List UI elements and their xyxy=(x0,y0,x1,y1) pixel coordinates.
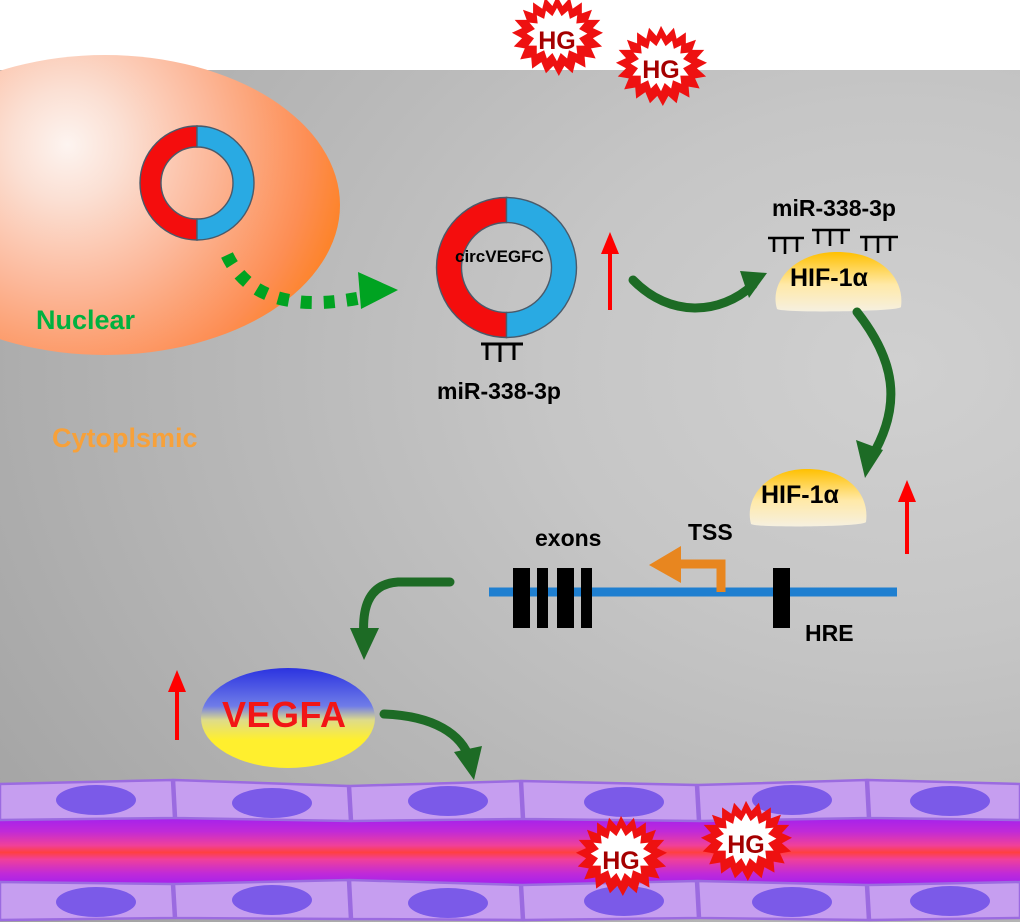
exon-box xyxy=(581,568,592,628)
exons-label: exons xyxy=(535,525,601,552)
mirna-label-hif: miR-338-3p xyxy=(772,195,896,222)
hre-box xyxy=(773,568,790,628)
hif1a-label-nuclear: HIF-1α xyxy=(761,481,839,510)
hif1a-label-cytoplasmic: HIF-1α xyxy=(790,264,868,293)
upregulation-arrow-circvegfc xyxy=(598,228,622,312)
circrna-cytoplasmic xyxy=(424,185,589,350)
vegfa-label: VEGFA xyxy=(222,694,347,736)
upregulation-arrow-vegfa xyxy=(165,666,189,742)
blood-vessel xyxy=(0,778,1020,922)
exon-box xyxy=(537,568,548,628)
nuclear-compartment-label: Nuclear xyxy=(36,305,135,336)
exon-box xyxy=(557,568,574,628)
hre-label: HRE xyxy=(805,620,854,647)
tss-label: TSS xyxy=(688,519,733,546)
exon-box xyxy=(513,568,530,628)
hg-label-bottom-2: HG xyxy=(714,831,778,860)
endothelium-top xyxy=(0,780,1020,821)
mirna-binding-site-circ-icon xyxy=(478,340,528,366)
mirna-label-circ: miR-338-3p xyxy=(437,378,561,405)
cytoplasm-compartment-label: Cytoplsmic xyxy=(52,423,198,454)
circrna-nuclear xyxy=(127,113,267,253)
arrow-hif-translocation xyxy=(795,300,925,490)
nuclear-export-dotted-arrow xyxy=(215,245,415,335)
hg-label-top-2: HG xyxy=(629,56,693,85)
hg-label-bottom-1: HG xyxy=(589,847,653,876)
pathway-figure: circVEGFC miR-338-3p miR-338-3p xyxy=(0,0,1020,922)
endothelium-bottom xyxy=(0,880,1020,920)
hg-label-top-1: HG xyxy=(525,27,589,56)
circvegfc-label: circVEGFC xyxy=(455,247,544,267)
arrow-gene-to-vegfa xyxy=(340,572,470,682)
arrow-circ-to-hif xyxy=(625,243,785,323)
